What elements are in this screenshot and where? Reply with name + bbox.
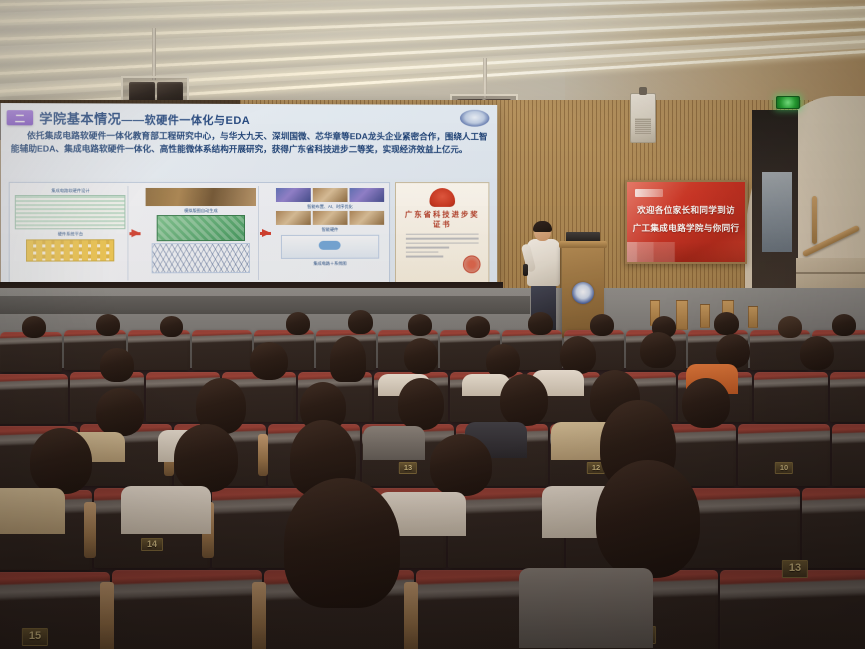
person-head: [30, 428, 92, 494]
audience-member: [486, 344, 520, 378]
person-head: [286, 312, 310, 335]
person-head: [832, 314, 856, 336]
figure-caption: 集成电路＋系统图: [313, 260, 346, 265]
person-head: [430, 434, 492, 496]
figure-caption: 集成电路软硬件设计: [51, 188, 89, 193]
certificate-title-line2: 证书: [405, 220, 480, 230]
audience-member: [800, 336, 834, 370]
audience-member: [716, 334, 750, 368]
projector-mount-pole: [152, 28, 156, 80]
network-graph-graphic: [151, 243, 250, 273]
slide-title: 学院基本情况——软硬件一体化与EDA: [39, 108, 250, 128]
audience-member: [466, 316, 490, 338]
stair-step: [796, 272, 865, 274]
person-head: [682, 378, 730, 428]
audience-member: [430, 434, 492, 496]
data-table-graphic: [15, 195, 126, 229]
person-head: [398, 378, 444, 430]
audience-member: [348, 310, 373, 334]
system-diagram-graphic: [281, 234, 379, 258]
theater-seat[interactable]: [754, 372, 828, 422]
theater-seat[interactable]: [192, 330, 252, 370]
theater-seat[interactable]: 13: [720, 570, 865, 649]
stage-front-edge: [0, 296, 530, 314]
seat-number-plate: 15: [22, 628, 48, 646]
doorway-exit[interactable]: [752, 110, 798, 290]
seat-armrest: [404, 582, 418, 649]
audience-member: [174, 424, 238, 492]
wall-decor-plaque: [748, 306, 758, 328]
seat-armrest: [84, 502, 96, 558]
seat-armrest: [100, 582, 114, 649]
projector-mount-pole: [483, 58, 487, 98]
person-head: [96, 314, 120, 336]
person-head: [714, 312, 739, 335]
handrail-post: [812, 196, 817, 244]
audience-member: [640, 332, 676, 368]
person-head: [22, 316, 46, 338]
podium-top-surface: [559, 241, 607, 248]
slide-header: 二 学院基本情况——软硬件一体化与EDA: [7, 107, 492, 129]
audience-seating: 14 13 10: [0, 330, 865, 649]
audience-member: [404, 338, 438, 374]
certificate-stamp-icon: [463, 255, 481, 273]
wall-mounted-speaker: [630, 93, 656, 143]
certificate-title: 广东省科技进步奖 证书: [405, 210, 480, 229]
person-head: [408, 314, 432, 336]
banner-glare: [627, 182, 745, 262]
person-head: [284, 478, 400, 608]
slide-section-badge: 二: [7, 110, 33, 125]
slide-body-text: 依托集成电路软硬件一体化教育部工程研究中心，与华大九天、深圳国微、芯华章等EDA…: [7, 129, 492, 157]
seat-armrest: [252, 582, 266, 649]
welcome-banner: 欢迎各位家长和同学到访 广工集成电路学院与你同行: [625, 180, 747, 264]
pcb-graphic: [157, 215, 245, 241]
wall-decor-plaque: [676, 300, 688, 330]
audience-member: [590, 314, 614, 336]
microphone-icon: [523, 264, 528, 276]
person-shoulders: [121, 486, 211, 534]
audience-member: [500, 374, 548, 426]
person-head: [778, 316, 802, 338]
seat-number-plate: 13: [399, 462, 417, 474]
university-logo-icon: [460, 110, 489, 127]
audience-member: [528, 312, 553, 335]
audience-member: [96, 388, 144, 436]
person-head: [716, 334, 750, 368]
theater-seat[interactable]: [112, 570, 262, 649]
presenter-hair: [533, 221, 552, 232]
person-head: [250, 342, 288, 380]
hardware-image: [349, 211, 384, 225]
theater-seat[interactable]: [684, 488, 800, 568]
person-head: [466, 316, 490, 338]
person-head: [500, 374, 548, 426]
person-head: [590, 314, 614, 336]
audience-member: [286, 312, 310, 335]
person-shoulders: [363, 426, 425, 460]
door-window: [762, 172, 792, 252]
person-head: [640, 332, 676, 368]
audience-member: [398, 378, 444, 430]
person-head: [100, 348, 134, 382]
slide-title-sub: ——软硬件一体化与EDA: [121, 114, 250, 126]
audience-member: [160, 316, 183, 337]
wafer-image: [313, 188, 348, 202]
person-head: [404, 338, 438, 374]
audience-member: [100, 348, 134, 382]
audience-member: [408, 314, 432, 336]
certificate-title-line1: 广东省科技进步奖: [405, 210, 480, 220]
seat-number-plate: 14: [141, 538, 163, 551]
theater-seat[interactable]: [832, 424, 865, 486]
wafer-image: [349, 188, 384, 202]
exit-sign-icon: [776, 96, 800, 109]
presentation-slide: 二 学院基本情况——软硬件一体化与EDA 依托集成电路软硬件一体化教育部工程研究…: [1, 103, 498, 287]
audience-member: [596, 460, 700, 578]
person-head: [486, 344, 520, 378]
audience-member: [778, 316, 802, 338]
audience-member: [96, 314, 120, 336]
seat-number-plate: 13: [782, 560, 808, 578]
speaker-grill: [635, 118, 651, 134]
award-certificate: 广东省科技进步奖 证书: [395, 182, 489, 283]
slide-paragraph: 依托集成电路软硬件一体化教育部工程研究中心，与华大九天、深圳国微、芯华章等EDA…: [11, 129, 488, 157]
hardware-image-row: [276, 211, 385, 225]
person-head: [160, 316, 183, 337]
seat-armrest: [258, 434, 268, 476]
wall-decor-plaque: [700, 304, 710, 328]
slide-figure-area: 集成电路软硬件设计 硬件系统平台 模拟版图自动生成: [9, 182, 490, 285]
figure-panel: 智能布置、AI、时序优化 智能硬件 集成电路＋系统图: [274, 186, 386, 280]
wafer-image-row: [276, 188, 385, 202]
audience-member: [832, 314, 856, 336]
figure-caption: 模拟版图自动生成: [184, 208, 218, 213]
person-head: [560, 336, 596, 374]
flow-arrow-icon: [262, 229, 271, 237]
person-head: [800, 336, 834, 370]
audience-member: [250, 342, 288, 380]
wafer-image: [276, 188, 311, 202]
theater-seat[interactable]: 10: [738, 424, 830, 486]
audience-member: [560, 336, 596, 374]
figure-panel: 集成电路软硬件设计 硬件系统平台: [13, 186, 129, 281]
figure-group-left: 集成电路软硬件设计 硬件系统平台 模拟版图自动生成: [9, 182, 390, 285]
audience-member: [330, 336, 366, 382]
theater-seat[interactable]: [0, 374, 68, 424]
person-head: [174, 424, 238, 492]
hardware-image: [313, 211, 348, 225]
chip-grid-graphic: [26, 239, 115, 261]
seat-number-plate: 10: [775, 462, 793, 474]
audience-member: [284, 478, 400, 608]
layout-photo-graphic: [146, 188, 256, 206]
figure-caption: 智能布置、AI、时序优化: [307, 204, 353, 209]
figure-caption: 硬件系统平台: [58, 232, 84, 237]
theater-seat[interactable]: [0, 332, 62, 372]
person-head: [528, 312, 553, 335]
audience-member: [714, 312, 739, 335]
audience-member: [30, 428, 92, 494]
person-shoulders: [519, 568, 653, 648]
flow-arrow-icon: [132, 229, 141, 237]
auditorium-photo: 二 学院基本情况——软硬件一体化与EDA 依托集成电路软硬件一体化教育部工程研究…: [0, 0, 865, 649]
slide-title-main: 学院基本情况: [39, 111, 121, 126]
person-head: [330, 336, 366, 382]
theater-seat[interactable]: [802, 488, 865, 568]
figure-panel: 模拟版图自动生成: [144, 186, 259, 280]
person-head: [348, 310, 373, 334]
person-head: [596, 460, 700, 578]
person-head: [96, 388, 144, 436]
audience-member: [682, 378, 730, 428]
projection-screen: 二 学院基本情况——软硬件一体化与EDA 依托集成电路软硬件一体化教育部工程研究…: [1, 103, 498, 287]
podium-university-emblem-icon: [572, 282, 594, 304]
hardware-image: [276, 211, 311, 225]
certificate-seal-icon: [430, 188, 456, 207]
theater-seat[interactable]: 15: [0, 572, 110, 649]
audience-member: [22, 316, 46, 338]
person-shoulders: [0, 488, 65, 534]
theater-seat[interactable]: [830, 372, 865, 422]
figure-caption: 智能硬件: [322, 227, 339, 232]
